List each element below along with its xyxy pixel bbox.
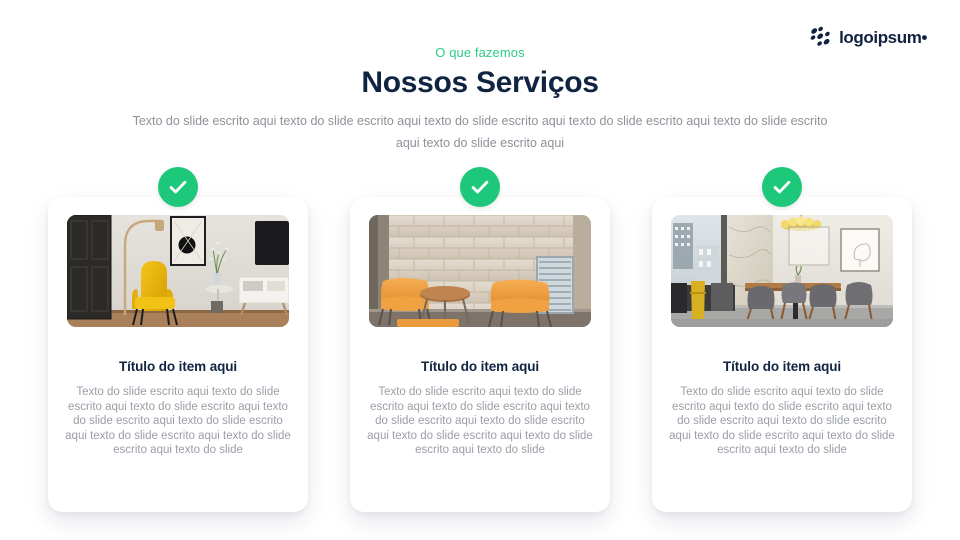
service-card[interactable]: Título do item aqui Texto do slide escri… [48,197,308,512]
brand-logo-text: logoipsum• [839,29,927,46]
card-title: Título do item aqui [662,359,902,374]
dining-room-chandelier-photo [671,215,893,327]
section-eyebrow: O que fazemos [0,45,960,60]
page-title: Nossos Serviços [0,66,960,100]
card-body: Texto do slide escrito aqui texto do sli… [62,385,294,458]
check-icon [167,176,189,198]
check-badge [460,167,500,207]
card-body: Texto do slide escrito aqui texto do sli… [364,385,596,458]
brand-logo: logoipsum• [810,26,927,47]
service-card[interactable]: Título do item aqui Texto do slide escri… [652,197,912,512]
brick-wall-orange-chairs-photo [369,215,591,327]
section-subcopy: Texto do slide escrito aqui texto do sli… [130,110,830,154]
dots-cluster-icon [810,26,832,47]
card-title: Título do item aqui [360,359,600,374]
living-room-yellow-armchair-photo [67,215,289,327]
service-cards-row: Título do item aqui Texto do slide escri… [48,197,912,512]
check-badge [158,167,198,207]
card-title: Título do item aqui [58,359,298,374]
check-icon [469,176,491,198]
check-icon [771,176,793,198]
service-card[interactable]: Título do item aqui Texto do slide escri… [350,197,610,512]
check-badge [762,167,802,207]
card-body: Texto do slide escrito aqui texto do sli… [666,385,898,458]
